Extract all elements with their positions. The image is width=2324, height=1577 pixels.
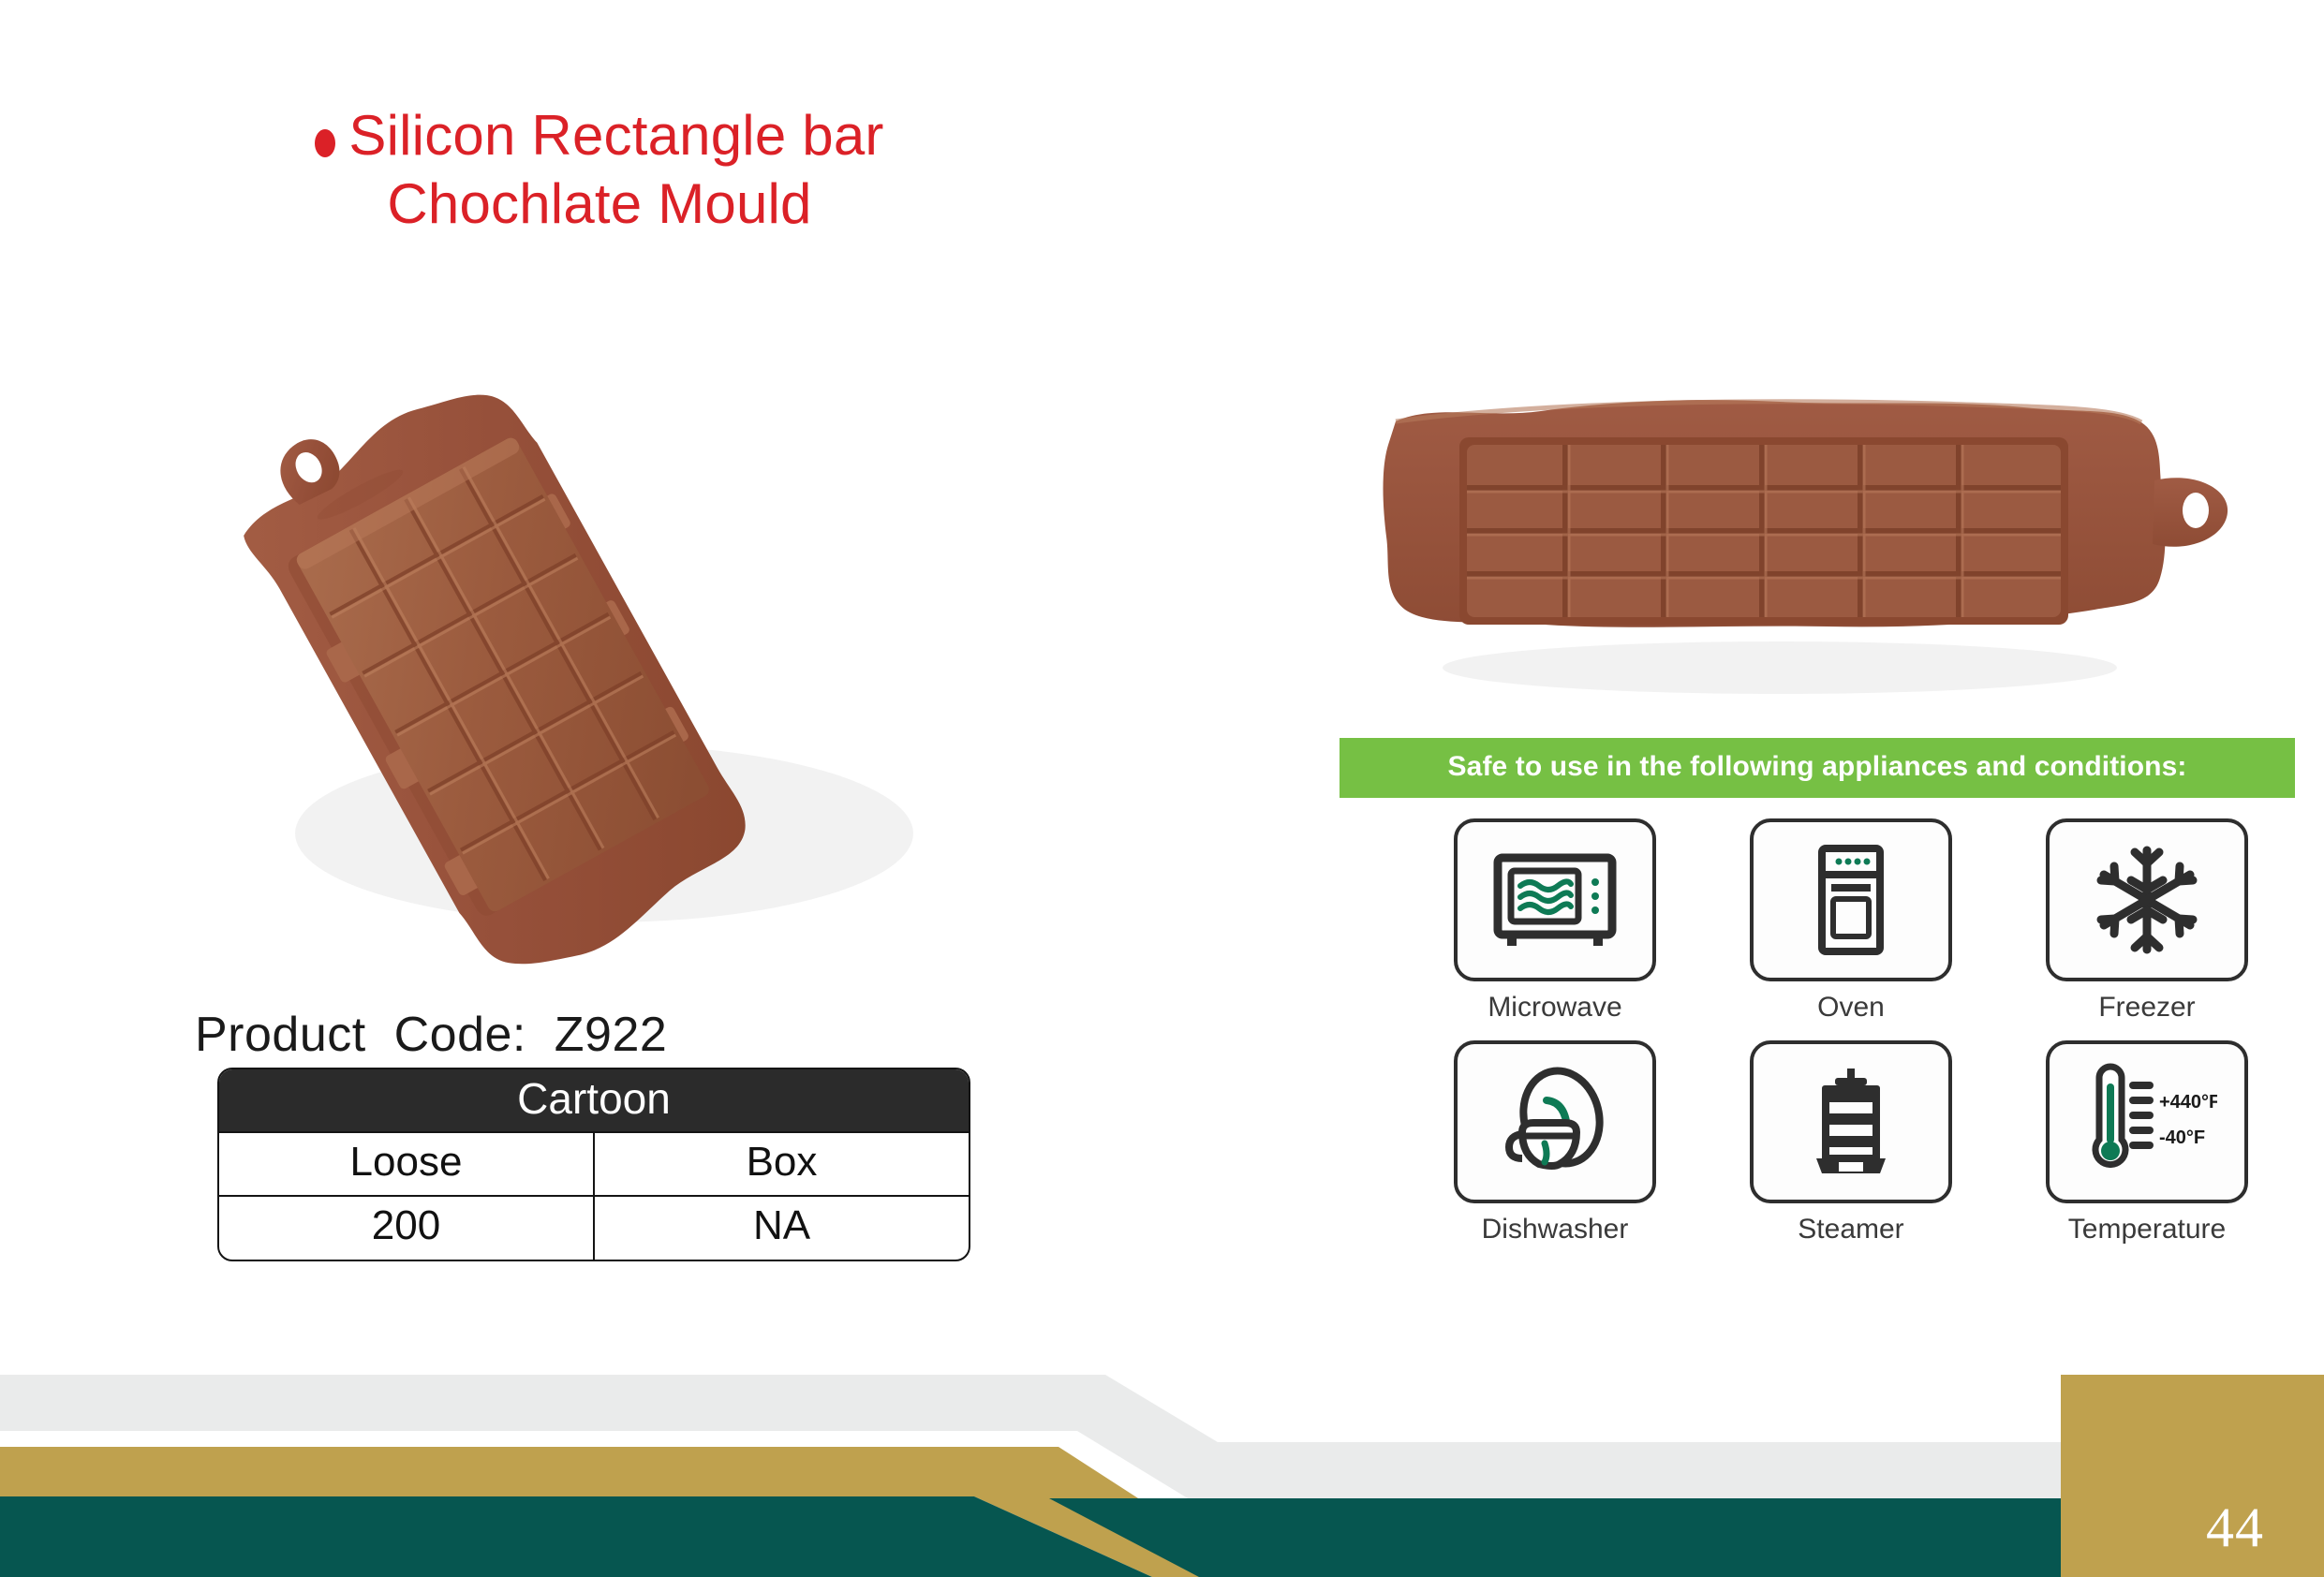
- temperature-max-text: +440°F: [2159, 1092, 2217, 1113]
- safety-label-oven: Oven: [1817, 992, 1885, 1024]
- packing-table: Cartoon Loose Box 200 NA: [217, 1068, 967, 1261]
- dishwasher-icon: [1485, 1063, 1625, 1181]
- page-title-line2: Chochlate Mould: [244, 169, 955, 238]
- safety-item-dishwasher: Dishwasher: [1407, 1040, 1703, 1245]
- microwave-icon: [1485, 841, 1625, 959]
- safety-icon-grid: Microwave Oven: [1340, 818, 2295, 1245]
- safety-panel: Safe to use in the following appliances …: [1340, 738, 2295, 1245]
- page-title: Silicon Rectangle bar Chochlate Mould: [244, 101, 955, 238]
- page-title-line1: Silicon Rectangle bar: [348, 104, 883, 167]
- page-number: 44: [2206, 1496, 2264, 1560]
- table-row-columns: Loose Box: [219, 1131, 969, 1195]
- microwave-icon-box: [1454, 818, 1656, 981]
- thermometer-icon-box: +440°F -40°F: [2046, 1040, 2248, 1203]
- product-photo-main: [164, 234, 1026, 1011]
- table-header-cartoon: Cartoon: [219, 1069, 969, 1131]
- snowflake-icon-box: [2046, 818, 2248, 981]
- table-cell-loose-value: 200: [219, 1197, 593, 1259]
- table-cell-box-label: Box: [593, 1133, 969, 1195]
- table-row-values: 200 NA: [219, 1195, 969, 1259]
- product-code: Product Code: Z922: [195, 1007, 667, 1063]
- safety-label-dishwasher: Dishwasher: [1482, 1214, 1629, 1245]
- footer-decoration: 44: [0, 1349, 2324, 1577]
- safety-item-oven: Oven: [1703, 818, 1999, 1024]
- safety-label-steamer: Steamer: [1798, 1214, 1903, 1245]
- product-photo-secondary: [1340, 370, 2239, 716]
- snowflake-icon: [2077, 841, 2217, 959]
- dishwasher-icon-box: [1454, 1040, 1656, 1203]
- safety-label-microwave: Microwave: [1488, 992, 1621, 1024]
- steamer-icon: [1781, 1063, 1921, 1181]
- safety-item-steamer: Steamer: [1703, 1040, 1999, 1245]
- table-cell-loose-label: Loose: [219, 1133, 593, 1195]
- temperature-min-text: -40°F: [2159, 1127, 2205, 1148]
- red-dot-bullet-icon: [315, 129, 335, 157]
- safety-item-microwave: Microwave: [1407, 818, 1703, 1024]
- oven-icon-box: [1750, 818, 1952, 981]
- safety-item-freezer: Freezer: [1999, 818, 2295, 1024]
- table-cell-box-value: NA: [593, 1197, 969, 1259]
- steamer-icon-box: [1750, 1040, 1952, 1203]
- oven-icon: [1781, 841, 1921, 959]
- safety-item-temperature: +440°F -40°F Temperature: [1999, 1040, 2295, 1245]
- safety-banner: Safe to use in the following appliances …: [1340, 738, 2295, 798]
- thermometer-icon: +440°F -40°F: [2077, 1063, 2217, 1181]
- safety-label-temperature: Temperature: [2068, 1214, 2226, 1245]
- safety-label-freezer: Freezer: [2098, 992, 2195, 1024]
